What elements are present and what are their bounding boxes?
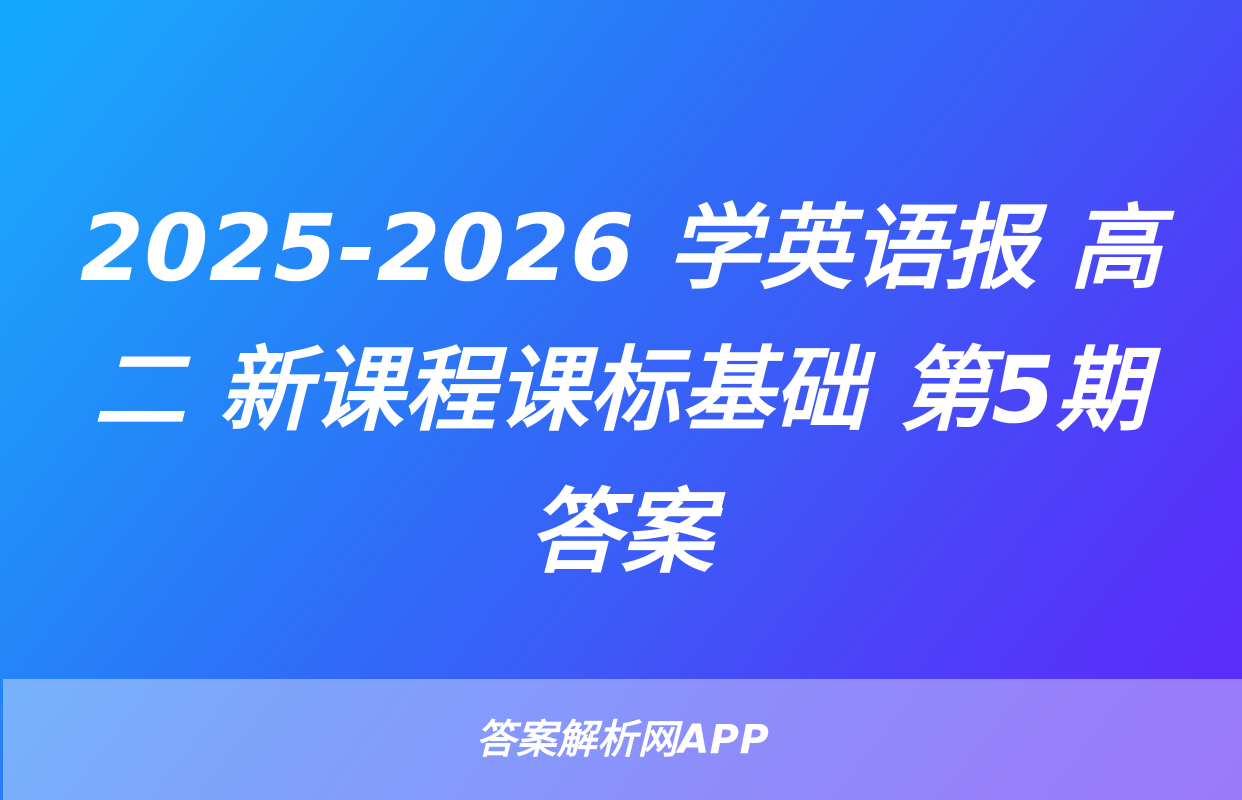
watermark-band: 答案解析网APP: [3, 679, 1242, 800]
app-watermark-label: 答案解析网APP: [476, 720, 770, 760]
answer-cover-card: 2025-2026 学英语报 高二 新课程课标基础 第5期答案 答案解析网APP: [0, 0, 1242, 800]
title-block: 2025-2026 学英语报 高二 新课程课标基础 第5期答案: [0, 176, 1242, 606]
page-title: 2025-2026 学英语报 高二 新课程课标基础 第5期答案: [56, 178, 1186, 604]
